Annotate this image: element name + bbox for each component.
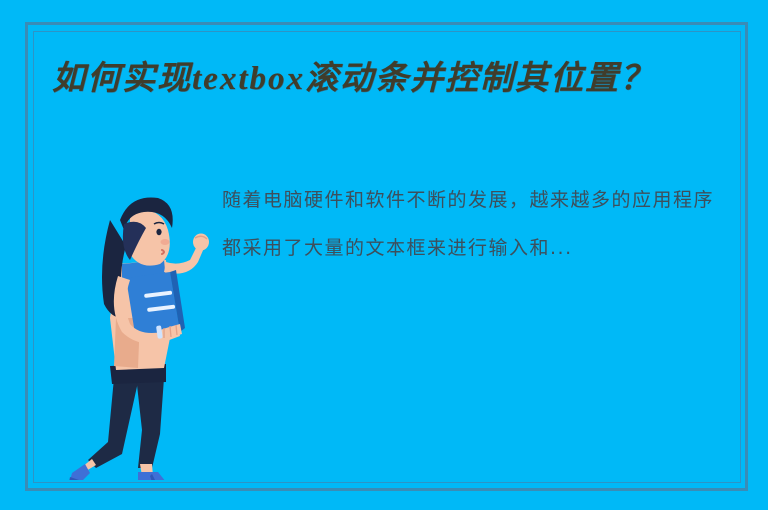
cheek-blush (161, 239, 170, 245)
article-card: 如何实现textbox滚动条并控制其位置？ 随着电脑硬件和软件不断的发展，越来越… (0, 0, 768, 510)
walking-woman-illustration (52, 168, 212, 480)
back-leg-shape (88, 378, 138, 468)
illustration-svg (52, 168, 212, 480)
eye (156, 229, 161, 235)
article-excerpt: 随着电脑硬件和软件不断的发展，越来越多的应用程序都采用了大量的文本框来进行输入和… (222, 176, 730, 272)
page-title: 如何实现textbox滚动条并控制其位置？ (52, 56, 712, 102)
front-leg-shape (136, 376, 164, 468)
